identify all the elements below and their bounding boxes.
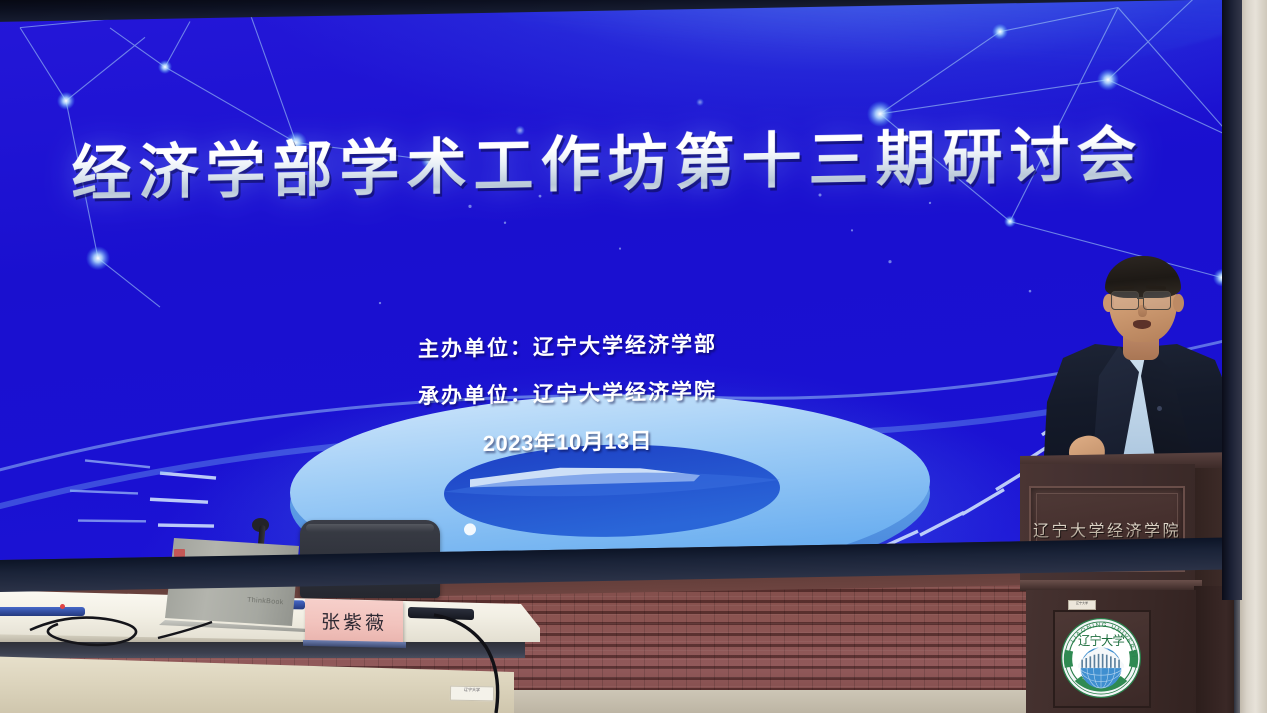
screen-bezel-right [1222, 0, 1242, 600]
podium-power-cable [430, 595, 550, 713]
desk-name-card: 张紫薇 [305, 599, 403, 644]
svg-text:辽宁大学: 辽宁大学 [1078, 633, 1124, 648]
eyeglasses-lens-left [1111, 291, 1139, 310]
eyeglasses-bridge [1137, 297, 1144, 299]
lectern-podium: 辽宁大学经济学院 辽宁大学 [1020, 452, 1240, 713]
podium-sign-text: 辽宁大学经济学院 [1033, 517, 1181, 541]
conference-stage-scene: 经济学部学术工作坊第十三期研讨会 主办单位：辽宁大学经济学部 承办单位：辽宁大学… [0, 0, 1267, 713]
chair-highlight [306, 524, 434, 532]
emblem-frame: LIAONING UNIVERSITY 辽 宁 大 学 [1053, 610, 1151, 708]
speaker-person [1037, 258, 1242, 473]
speaker-mouth [1133, 320, 1151, 329]
side-wall [1238, 0, 1267, 713]
liaoning-university-emblem: LIAONING UNIVERSITY 辽 宁 大 学 [1060, 617, 1142, 699]
podium-small-plaque: 辽宁大学 [1068, 600, 1096, 610]
name-card-text: 张紫薇 [321, 607, 387, 635]
speaker-nose [1138, 305, 1147, 317]
speaker-ear-right [1173, 294, 1184, 312]
speaker-jacket-button [1157, 406, 1162, 411]
eyeglasses-lens-right [1143, 291, 1171, 310]
